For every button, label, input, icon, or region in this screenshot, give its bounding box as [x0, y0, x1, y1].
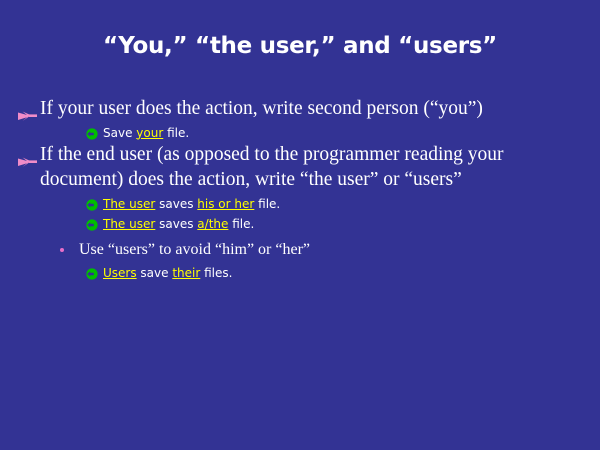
bullet-level2-item: The user saves a/the file. [86, 216, 600, 233]
bullet-level1-text: If the end user (as opposed to the progr… [40, 144, 504, 191]
bullet-level2-text-part2: files. [200, 266, 232, 280]
bullet-level2-item: Users save their files. [86, 265, 600, 282]
arrow-bullet-icon [18, 104, 37, 115]
bullet-level2-highlight1: The user [103, 217, 155, 231]
bullet-level2-item: The user saves his or her file. [86, 196, 600, 213]
bullet-level3-text: Use “users” to avoid “him” or “her” [79, 241, 310, 258]
bullet-level3-item: Use “users” to avoid “him” or “her” [56, 240, 600, 260]
slide-body: If your user does the action, write seco… [0, 96, 600, 282]
green-circle-arrow-bullet-icon [86, 199, 98, 211]
bullet-level2-highlight1: The user [103, 197, 155, 211]
bullet-level2-item: Save your file. [86, 125, 600, 142]
arrow-bullet-icon [18, 150, 37, 161]
slide-canvas: “You,” “the user,” and “users” If your u… [0, 0, 600, 450]
page-title: “You,” “the user,” and “users” [0, 33, 600, 59]
dot-bullet-icon [60, 248, 64, 252]
bullet-level2-text-part1: save [137, 266, 173, 280]
bullet-level1-text: If your user does the action, write seco… [40, 98, 483, 119]
bullet-level2-text-part1: saves [155, 197, 197, 211]
bullet-level1-item: If the end user (as opposed to the progr… [18, 142, 585, 193]
bullet-level2-highlight2: a/the [197, 217, 228, 231]
bullet-level2-text-part1: saves [155, 217, 197, 231]
green-circle-arrow-bullet-icon [86, 128, 98, 140]
green-circle-arrow-bullet-icon [86, 268, 98, 280]
bullet-level2-text-part1: Save [103, 126, 136, 140]
bullet-level2-text-part2: file. [228, 217, 254, 231]
bullet-level2-highlight2: their [172, 266, 200, 280]
bullet-level2-highlight2: his or her [197, 197, 254, 211]
bullet-level1-item: If your user does the action, write seco… [18, 96, 585, 122]
bullet-level2-text-part2: file. [254, 197, 280, 211]
green-circle-arrow-bullet-icon [86, 219, 98, 231]
bullet-level2-text-part2: file. [163, 126, 189, 140]
bullet-level2-highlight1: your [136, 126, 163, 140]
bullet-level2-highlight1: Users [103, 266, 137, 280]
